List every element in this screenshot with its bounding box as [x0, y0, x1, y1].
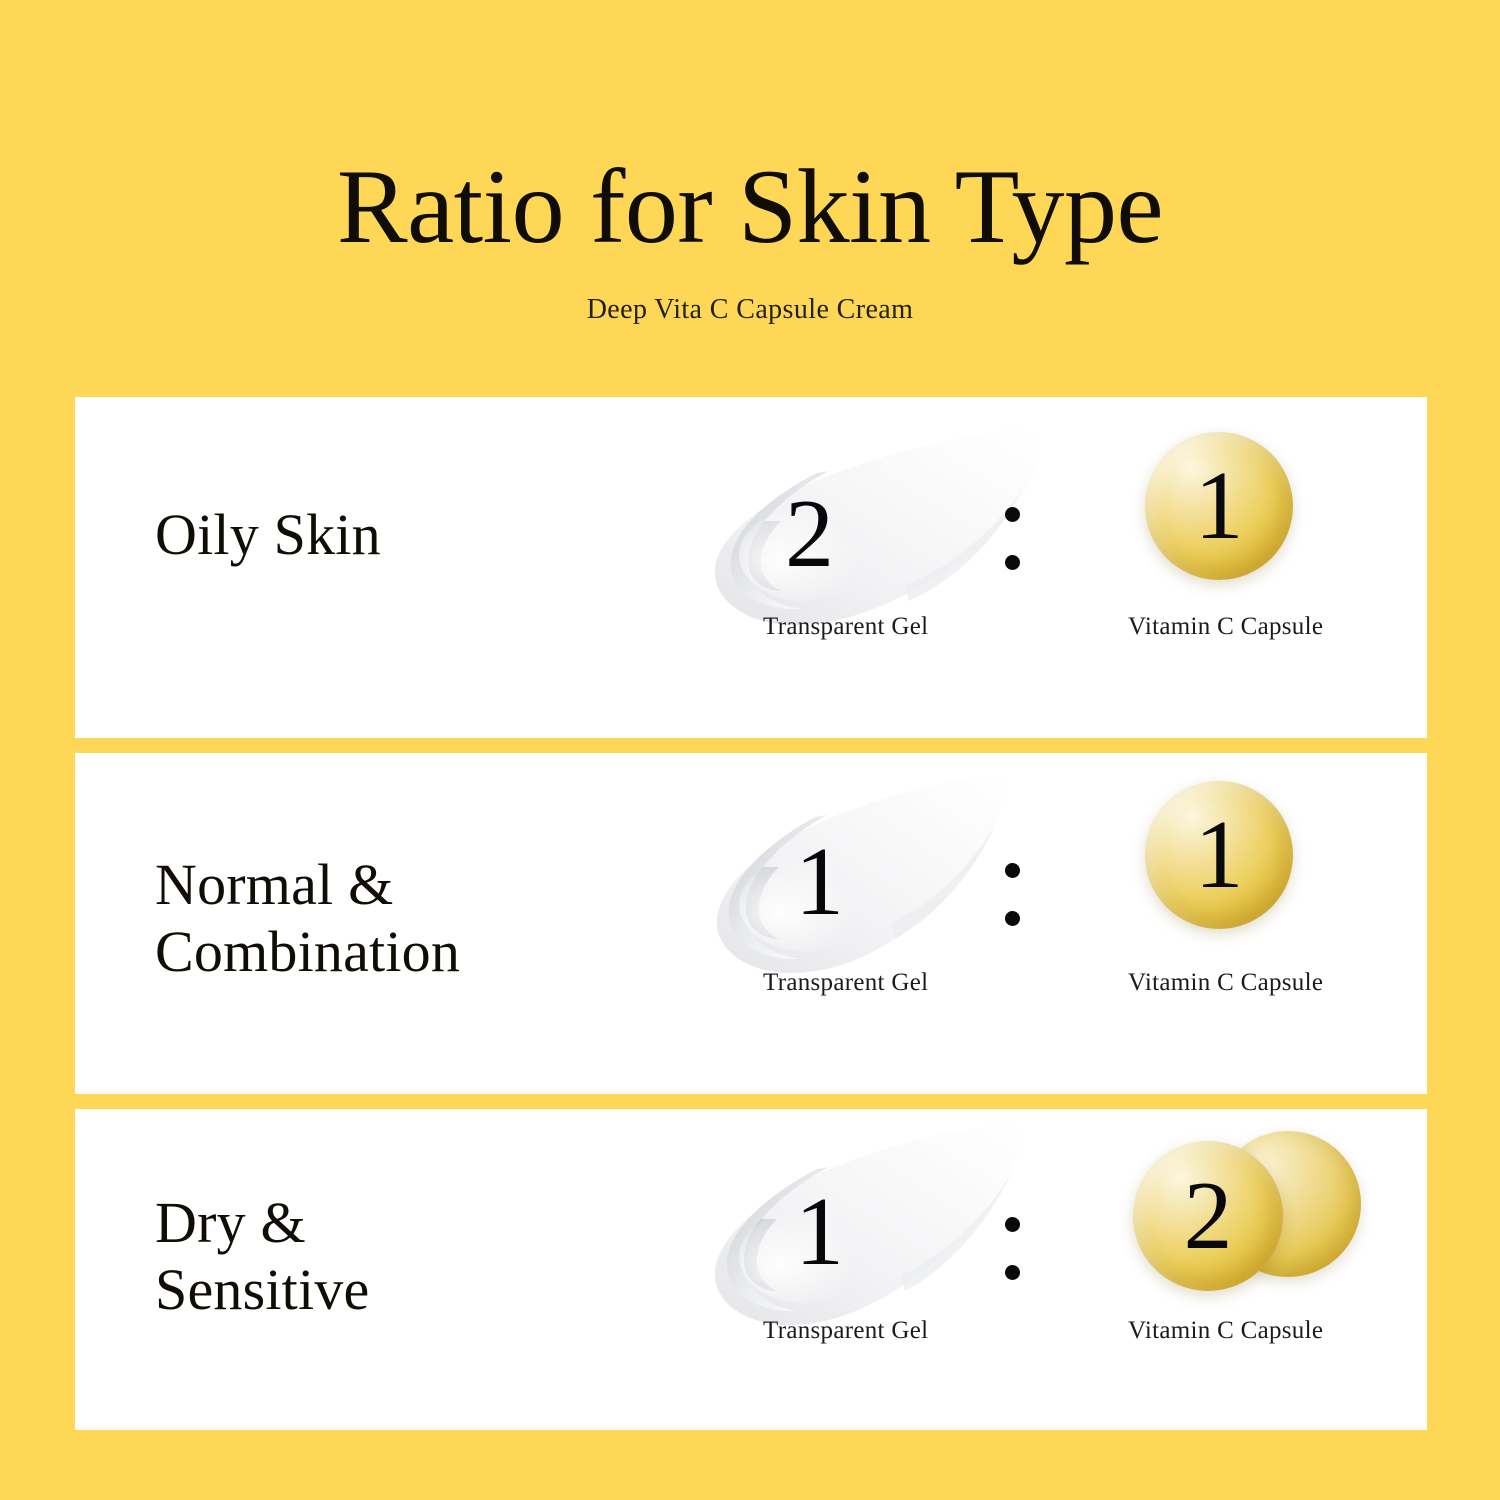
ratio-separator — [1005, 863, 1023, 926]
ratio-separator — [1005, 1217, 1023, 1280]
skin-type-label: Dry & Sensitive — [155, 1189, 369, 1324]
skin-type-label: Oily Skin — [155, 501, 381, 568]
transparent-gel-swatch: 1 — [705, 773, 1045, 988]
transparent-gel-swatch: 1 — [705, 1123, 1045, 1338]
vitamin-c-capsule-group: 1 — [1105, 422, 1395, 622]
capsule-unit-label: Vitamin C Capsule — [1128, 613, 1323, 641]
ratio-row-card: Normal & Combination — [75, 753, 1427, 1094]
gel-smear-icon — [705, 425, 1045, 640]
capsule-unit-label: Vitamin C Capsule — [1128, 969, 1323, 997]
transparent-gel-swatch: 2 — [705, 425, 1045, 640]
capsule-ratio-value: 1 — [1145, 432, 1293, 580]
gel-ratio-value: 1 — [795, 1183, 844, 1281]
row-content: Normal & Combination — [75, 753, 1427, 1094]
ratio-separator — [1005, 507, 1023, 570]
separator-dot-bottom — [1005, 1265, 1020, 1280]
separator-dot-bottom — [1005, 911, 1020, 926]
capsule-icon: 1 — [1145, 432, 1293, 580]
capsule-icon: 2 — [1133, 1141, 1283, 1291]
vitamin-c-capsule-group: 2 — [1105, 1127, 1395, 1327]
infographic-page: Ratio for Skin Type Deep Vita C Capsule … — [0, 0, 1500, 1500]
gel-unit-label: Transparent Gel — [763, 1317, 928, 1345]
separator-dot-bottom — [1005, 555, 1020, 570]
gel-smear-icon — [705, 1123, 1045, 1338]
row-content: Dry & Sensitive — [75, 1109, 1427, 1430]
vitamin-c-capsule-group: 1 — [1105, 771, 1395, 971]
page-subtitle: Deep Vita C Capsule Cream — [0, 294, 1500, 326]
page-title: Ratio for Skin Type — [0, 150, 1500, 264]
separator-dot-top — [1005, 863, 1020, 878]
capsule-ratio-value: 2 — [1133, 1141, 1283, 1291]
capsule-ratio-value: 1 — [1145, 781, 1293, 929]
capsule-unit-label: Vitamin C Capsule — [1128, 1317, 1323, 1345]
ratio-row-card: Dry & Sensitive — [75, 1109, 1427, 1430]
gel-unit-label: Transparent Gel — [763, 613, 928, 641]
gel-ratio-value: 2 — [785, 485, 834, 583]
row-content: Oily Skin — [75, 397, 1427, 738]
separator-dot-top — [1005, 507, 1020, 522]
header: Ratio for Skin Type Deep Vita C Capsule … — [0, 0, 1500, 326]
skin-type-label: Normal & Combination — [155, 851, 460, 986]
ratio-row-card: Oily Skin — [75, 397, 1427, 738]
gel-ratio-value: 1 — [795, 833, 844, 931]
separator-dot-top — [1005, 1217, 1020, 1232]
gel-unit-label: Transparent Gel — [763, 969, 928, 997]
gel-smear-icon — [705, 773, 1045, 988]
capsule-icon: 1 — [1145, 781, 1293, 929]
